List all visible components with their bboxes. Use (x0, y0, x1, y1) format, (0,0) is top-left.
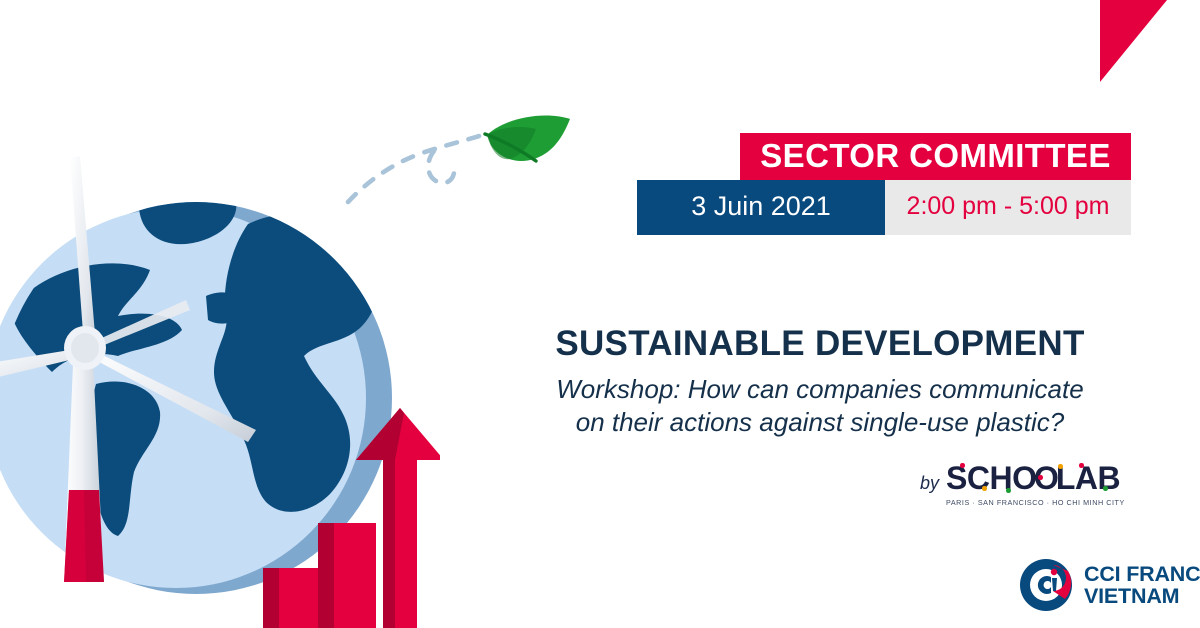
subtitle-line-1: Workshop: How can companies communicate (556, 374, 1083, 404)
corner-wedge-decoration (1100, 0, 1200, 82)
event-time: 2:00 pm - 5:00 pm (885, 180, 1131, 235)
subtitle-line-2: on their actions against single-use plas… (576, 407, 1065, 437)
schoolab-accent-dot (1006, 488, 1011, 493)
schoolab-wordmark: SCHOOLAB PARIS · SAN FRANCISCO · HO CHI … (946, 462, 1114, 507)
schoolab-accent-dot (960, 463, 965, 468)
page-title: SUSTAINABLE DEVELOPMENT (500, 325, 1140, 364)
schoolab-word-oo: OO (1012, 460, 1056, 496)
schoolab-accent-dot (1079, 463, 1084, 468)
schoolab-accent-dot (982, 486, 987, 491)
cci-logo-line-1: CCI FRANCE (1084, 563, 1200, 585)
schoolab-cities: PARIS · SAN FRANCISCO · HO CHI MINH CITY (946, 498, 1114, 507)
sustainability-illustration (0, 150, 440, 628)
green-leaf (485, 116, 570, 162)
event-date: 3 Juin 2021 (637, 180, 885, 235)
schoolab-by-label: by (920, 473, 939, 494)
event-banner: SECTOR COMMITTEE 3 Juin 2021 2:00 pm - 5… (637, 133, 1131, 241)
schoolab-accent-dot (1103, 486, 1108, 491)
schoolab-word-part1: SCH (946, 460, 1012, 496)
cci-logo-mark (1018, 557, 1074, 613)
schoolab-logo: by SCHOOLAB PARIS · SAN FRANCISCO · HO C… (920, 462, 1132, 518)
event-poster: SECTOR COMMITTEE 3 Juin 2021 2:00 pm - 5… (0, 0, 1200, 628)
event-subtitle: Workshop: How can companies communicate … (500, 373, 1140, 440)
banner-meta-row: 3 Juin 2021 2:00 pm - 5:00 pm (637, 180, 1131, 235)
banner-title: SECTOR COMMITTEE (740, 133, 1131, 180)
event-copy: SUSTAINABLE DEVELOPMENT Workshop: How ca… (500, 325, 1140, 439)
schoolab-wordmark-text: SCHOOLAB (946, 462, 1114, 494)
schoolab-word-part2: LAB (1056, 460, 1120, 496)
cci-france-vietnam-logo: CCI FRANCE VIETNAM (1018, 556, 1184, 614)
schoolab-accent-dot (1038, 475, 1043, 480)
schoolab-accent-dot (1058, 464, 1063, 469)
cci-logo-text: CCI FRANCE VIETNAM (1084, 563, 1200, 607)
cci-logo-line-2: VIETNAM (1084, 585, 1200, 607)
